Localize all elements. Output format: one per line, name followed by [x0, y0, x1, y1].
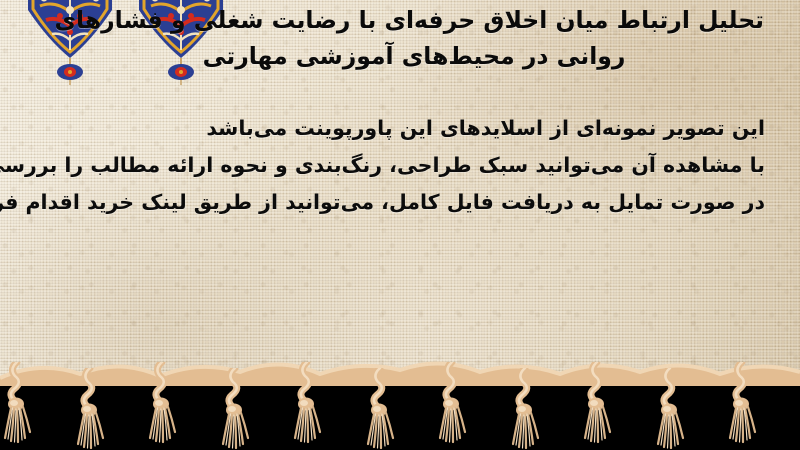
fringe-tassel — [363, 368, 397, 450]
fringe-tassel — [73, 368, 107, 450]
fringe-tassel — [508, 368, 542, 450]
fringe-tassel — [290, 362, 324, 446]
carpet-fringe — [0, 352, 800, 450]
fringe-tassel — [725, 362, 759, 446]
fringe-tassel — [653, 368, 687, 450]
fringe-tassel — [0, 362, 34, 446]
fringe-tassel — [218, 368, 252, 450]
fringe-tassel — [435, 362, 469, 446]
fringe-tassel — [145, 362, 179, 446]
slide-canvas: تحلیل ارتباط میان اخلاق حرفه‌ای با رضایت… — [0, 0, 800, 450]
slide-title-line-2: روانی در محیط‌های آموزشی مهارتی — [24, 38, 764, 74]
fringe-tassel — [580, 362, 614, 446]
slide-body-line-1: این تصویر نمونه‌ای از اسلایدهای این پاور… — [20, 110, 765, 147]
slide-title: تحلیل ارتباط میان اخلاق حرفه‌ای با رضایت… — [24, 2, 764, 74]
slide-body-line-2: با مشاهده آن می‌توانید سبک طراحی، رنگ‌بن… — [20, 147, 765, 184]
slide-body-line-3: در صورت تمایل به دریافت فایل کامل، می‌تو… — [20, 184, 765, 221]
slide-body: این تصویر نمونه‌ای از اسلایدهای این پاور… — [20, 110, 765, 221]
slide-title-line-1: تحلیل ارتباط میان اخلاق حرفه‌ای با رضایت… — [24, 2, 764, 38]
